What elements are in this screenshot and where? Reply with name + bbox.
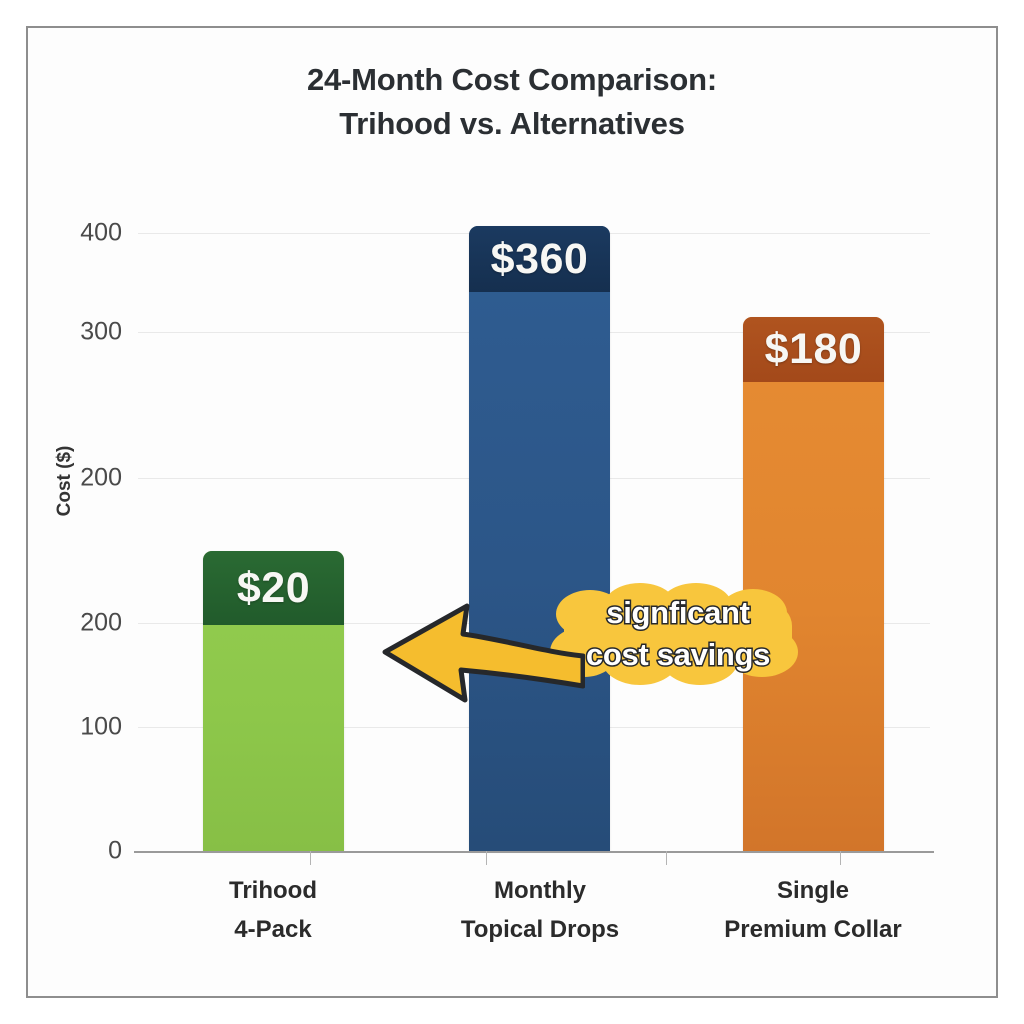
category-label-monthly-line-1: Monthly: [390, 872, 690, 911]
y-tick-label-0: 0: [12, 837, 122, 866]
chart-title-line-1: 24-Month Cost Comparison:: [0, 58, 1024, 102]
x-tick-1: [310, 851, 311, 865]
y-axis-label: Cost ($): [54, 411, 76, 551]
category-label-collar-line-2: Premium Collar: [663, 911, 963, 950]
x-tick-3: [666, 851, 667, 865]
bar-monthly-topical-drops[interactable]: $360: [469, 226, 610, 851]
chart-title-line-2: Trihood vs. Alternatives: [0, 102, 1024, 146]
x-axis-line: [134, 851, 934, 853]
category-label-monthly-line-2: Topical Drops: [390, 911, 690, 950]
bar-cap-monthly-drops: $360: [469, 226, 610, 292]
category-label-monthly-topical-drops: Monthly Topical Drops: [390, 872, 690, 950]
bar-trihood-4-pack[interactable]: $20: [203, 551, 344, 851]
chart-title: 24-Month Cost Comparison: Trihood vs. Al…: [0, 58, 1024, 146]
y-tick-label-100: 100: [12, 713, 122, 742]
y-tick-label-300: 300: [12, 318, 122, 347]
category-label-trihood-line-2: 4-Pack: [123, 911, 423, 950]
bar-value-premium-collar: $180: [765, 325, 863, 374]
cost-savings-arrow-icon: [355, 590, 585, 710]
category-label-trihood-4-pack: Trihood 4-Pack: [123, 872, 423, 950]
bar-cap-premium-collar: $180: [743, 317, 884, 382]
bar-body-monthly-drops: [469, 226, 610, 851]
y-tick-label-400: 400: [12, 219, 122, 248]
callout-line-1: signficant: [556, 592, 800, 634]
bar-value-monthly-drops: $360: [491, 235, 589, 284]
cost-savings-callout: signficant cost savings: [556, 592, 800, 675]
callout-line-2: cost savings: [556, 634, 800, 676]
category-label-collar-line-1: Single: [663, 872, 963, 911]
bar-cap-trihood: $20: [203, 551, 344, 625]
category-label-trihood-line-1: Trihood: [123, 872, 423, 911]
chart-figure: 24-Month Cost Comparison: Trihood vs. Al…: [0, 0, 1024, 1024]
bar-value-trihood: $20: [237, 564, 310, 613]
category-label-single-premium-collar: Single Premium Collar: [663, 872, 963, 950]
x-tick-2: [486, 851, 487, 865]
y-tick-label-200-lower: 200: [12, 609, 122, 638]
x-tick-4: [840, 851, 841, 865]
